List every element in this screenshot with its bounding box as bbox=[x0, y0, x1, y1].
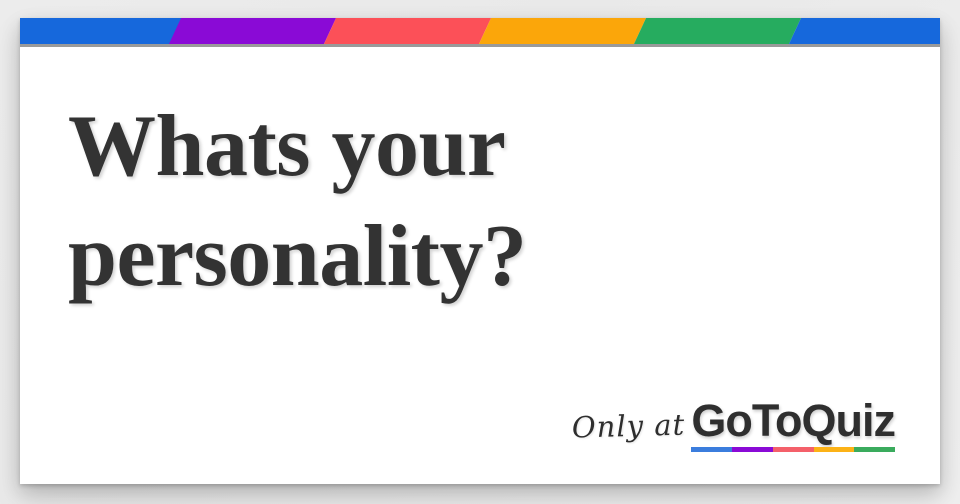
header-bar-segment-green-4 bbox=[632, 18, 803, 44]
brand-underline-segment-red-2 bbox=[773, 447, 814, 452]
brand-underline-bar bbox=[691, 447, 895, 452]
brand-underline-segment-green-4 bbox=[854, 447, 895, 452]
header-bar-segment-orange-3 bbox=[477, 18, 648, 44]
header-bar-segment-blue-0 bbox=[20, 18, 191, 44]
gotoquiz-logo[interactable]: GoToQuiz bbox=[691, 398, 895, 452]
screenshot-stage: Whats your personality? Only at GoToQuiz bbox=[0, 0, 960, 504]
page-title-line-2: personality? bbox=[68, 202, 768, 312]
header-bar-segment-purple-1 bbox=[167, 18, 338, 44]
brand-underline-segment-orange-3 bbox=[814, 447, 855, 452]
rainbow-header-bar bbox=[20, 18, 940, 44]
quiz-title-card: Whats your personality? Only at GoToQuiz bbox=[20, 18, 940, 484]
brand-only-at-label: Only at bbox=[572, 408, 686, 454]
page-title-line-1: Whats your bbox=[68, 92, 768, 202]
header-bar-segment-blue-5 bbox=[787, 18, 940, 44]
gotoquiz-wordmark: GoToQuiz bbox=[691, 398, 895, 443]
brand-underline-segment-purple-1 bbox=[732, 447, 773, 452]
brand-underline-segment-blue-0 bbox=[691, 447, 732, 452]
page-title: Whats your personality? bbox=[68, 92, 768, 312]
header-bar-segment-red-2 bbox=[322, 18, 493, 44]
header-bar-shadow bbox=[20, 44, 940, 47]
brand-lockup: Only at GoToQuiz bbox=[572, 398, 895, 452]
